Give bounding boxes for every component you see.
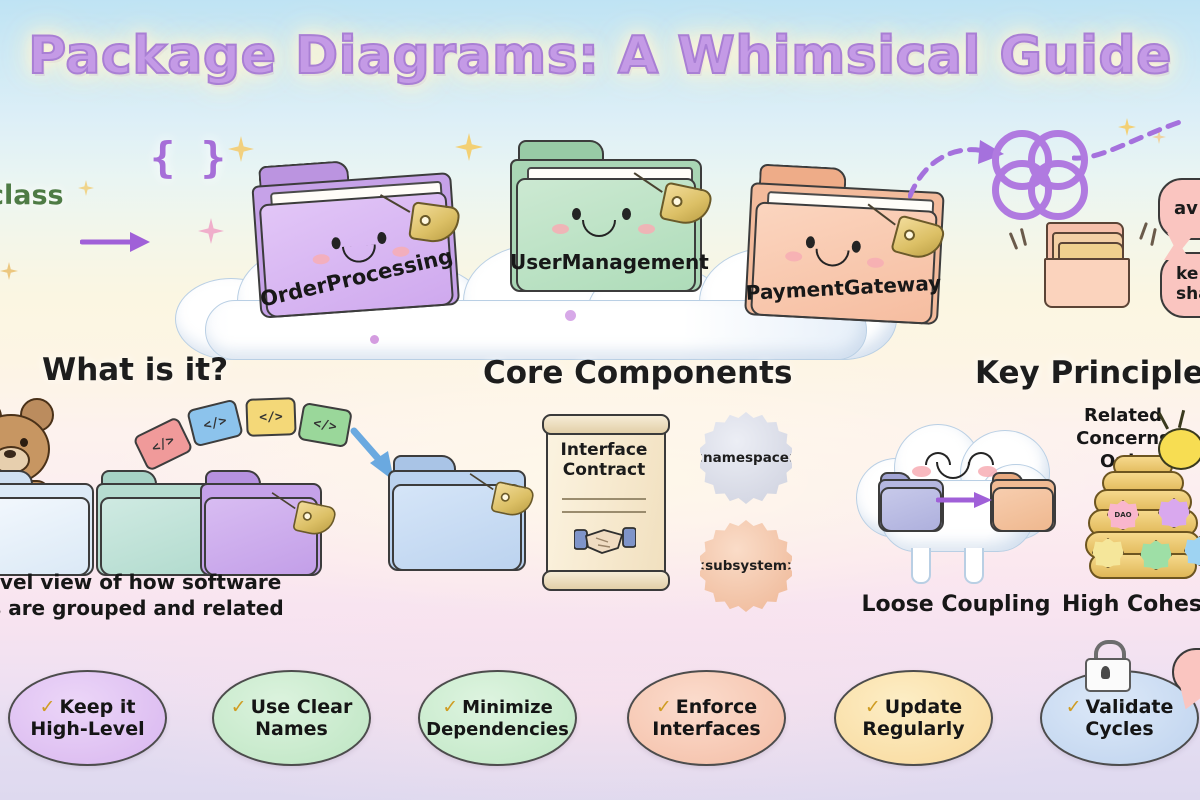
pill-line-2: Regularly bbox=[862, 718, 964, 740]
high-cohesion-label: High Cohesion bbox=[1062, 592, 1200, 618]
caption-line-2: dules are grouped and related bbox=[0, 596, 302, 622]
pill-line-2: Names bbox=[255, 718, 328, 740]
motion-line-decor bbox=[1150, 228, 1157, 246]
caption-line-1: gh-level view of how software bbox=[0, 570, 302, 596]
motion-line-decor bbox=[1020, 228, 1027, 246]
infographic-canvas: Package Diagrams: A Whimsical Guide clas… bbox=[0, 0, 1200, 800]
sparkle-icon bbox=[0, 262, 18, 280]
braces-decor: { } bbox=[150, 133, 226, 182]
speech-bubble-text: ke shal bbox=[1176, 265, 1200, 304]
stamp-label: <<subsystem>> bbox=[682, 558, 809, 574]
checklist-pill-minimize-dependencies[interactable]: ✓Minimize Dependencies bbox=[418, 670, 577, 766]
nested-folders-icon bbox=[1032, 218, 1132, 310]
stamp-label: <<namespace>> bbox=[680, 450, 811, 466]
motion-line-decor bbox=[1139, 222, 1148, 240]
hive-flower-handler bbox=[1140, 540, 1172, 570]
code-tile: </> bbox=[245, 397, 296, 437]
pill-line-2: Interfaces bbox=[652, 718, 760, 740]
hive-flower-service bbox=[1158, 498, 1190, 528]
pill-line-1: Enforce bbox=[676, 696, 757, 718]
stamp-namespace: <<namespace>> bbox=[700, 412, 792, 504]
package-label: UserManagement bbox=[510, 250, 698, 274]
grouped-folder-3[interactable] bbox=[200, 470, 318, 572]
page-title: Package Diagrams: A Whimsical Guide bbox=[0, 26, 1200, 86]
pill-line-1: Minimize bbox=[462, 697, 553, 718]
class-keyword-decor: class bbox=[0, 180, 64, 211]
checklist-pill-update-regularly[interactable]: ✓Update Regularly bbox=[834, 670, 993, 766]
check-icon: ✓ bbox=[442, 696, 458, 718]
bee-antenna bbox=[1178, 410, 1185, 428]
code-tile: </> bbox=[297, 402, 353, 448]
package-folder-orderprocessing[interactable]: OrderProcessing bbox=[250, 153, 456, 314]
grouped-folder-1[interactable] bbox=[0, 470, 90, 572]
bee-icon bbox=[1158, 428, 1200, 470]
package-folder-usermanagement[interactable]: UserManagement bbox=[510, 140, 698, 288]
sparkle-icon bbox=[228, 136, 254, 162]
pill-line-1: Validate bbox=[1086, 696, 1174, 718]
section-heading-what-is-it: What is it? bbox=[42, 352, 228, 388]
core-component-folder[interactable] bbox=[388, 455, 522, 567]
handshake-icon bbox=[574, 520, 636, 560]
check-icon: ✓ bbox=[656, 696, 672, 718]
pill-line-2: Cycles bbox=[1085, 718, 1153, 740]
hive-flower-model bbox=[1092, 538, 1124, 568]
hive-flower-dao: DAO bbox=[1107, 500, 1139, 530]
sparkle-icon bbox=[78, 180, 94, 196]
checklist-pill-use-clear-names[interactable]: ✓Use Clear Names bbox=[212, 670, 371, 766]
coupling-arrow-icon bbox=[936, 490, 994, 510]
cloud-leg bbox=[964, 548, 984, 584]
what-is-it-caption: gh-level view of how software dules are … bbox=[0, 570, 302, 621]
speech-bubble-text: av bbox=[1174, 199, 1198, 220]
scroll-line-1: Interface bbox=[540, 440, 668, 460]
loose-coupling-label: Loose Coupling bbox=[856, 592, 1056, 618]
section-heading-core-components: Core Components bbox=[483, 355, 792, 391]
scroll-line-2: Contract bbox=[540, 460, 668, 480]
pill-line-1: Use Clear bbox=[251, 696, 353, 718]
pill-line-1: Keep it bbox=[59, 696, 135, 718]
check-icon: ✓ bbox=[1066, 696, 1082, 718]
interface-contract-scroll[interactable]: Interface Contract bbox=[540, 412, 668, 590]
check-icon: ✓ bbox=[231, 696, 247, 718]
check-icon: ✓ bbox=[40, 696, 56, 718]
stamp-subsystem: <<subsystem>> bbox=[700, 520, 792, 612]
cloud-leg bbox=[911, 548, 931, 584]
section-heading-key-principles: Key Principles bbox=[975, 355, 1200, 391]
code-tile: </> bbox=[132, 416, 194, 472]
coupling-folder-left[interactable] bbox=[878, 472, 940, 528]
cloud-dot-decor bbox=[370, 335, 379, 344]
code-tile: </> bbox=[186, 399, 244, 448]
checklist-pill-enforce-interfaces[interactable]: ✓Enforce Interfaces bbox=[627, 670, 786, 766]
speech-bubble-keep-shallow: ke shal bbox=[1160, 252, 1200, 318]
speech-bubble-avoid: av bbox=[1158, 178, 1200, 240]
dependency-knot-icon bbox=[990, 128, 1082, 210]
lock-icon bbox=[1085, 640, 1127, 688]
coupling-folder-right[interactable] bbox=[990, 472, 1052, 528]
motion-line-decor bbox=[1009, 232, 1019, 250]
sparkle-icon bbox=[455, 133, 483, 161]
checklist-pill-keep-it-high-level[interactable]: ✓Keep it High-Level bbox=[8, 670, 167, 766]
pill-line-2: High-Level bbox=[30, 718, 144, 740]
purple-arrow-icon bbox=[80, 228, 152, 256]
pill-line-1: Update bbox=[885, 696, 962, 718]
check-icon: ✓ bbox=[865, 696, 881, 718]
cloud-dot-decor bbox=[565, 310, 576, 321]
grouped-folder-2[interactable] bbox=[96, 470, 214, 572]
pill-line-2: Dependencies bbox=[426, 719, 569, 740]
dashed-dependency-arrow-icon bbox=[1072, 116, 1184, 168]
